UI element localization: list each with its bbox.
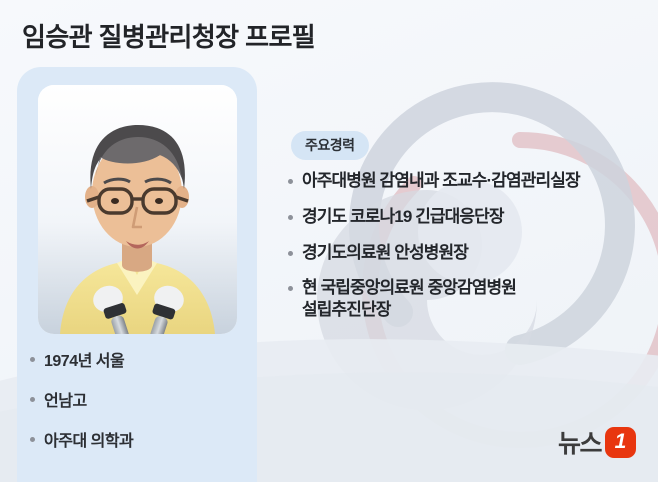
personal-info-list: 1974년 서울 언남고 아주대 의학과 <box>30 347 250 467</box>
logo-badge-icon: 1 <box>605 427 636 458</box>
career-item-text: 경기도의료원 안성병원장 <box>302 242 468 264</box>
profile-photo <box>38 85 237 334</box>
career-item-line1: 현 국립중앙의료원 중앙감염병원 <box>302 277 516 299</box>
career-list: 아주대병원 감염내과 조교수·감염관리실장 경기도 코로나19 긴급대응단장 경… <box>288 170 650 335</box>
career-item-text: 현 국립중앙의료원 중앙감염병원 설립추진단장 <box>302 277 516 321</box>
bullet-icon <box>288 179 293 184</box>
career-item-text: 아주대병원 감염내과 조교수·감염관리실장 <box>302 170 580 192</box>
infographic-canvas: 임승관 질병관리청장 프로필 <box>0 0 658 482</box>
career-item-line1: 경기도 코로나19 긴급대응단장 <box>302 206 504 228</box>
personal-info-text: 아주대 의학과 <box>44 427 133 451</box>
career-item-line2: 설립추진단장 <box>302 299 516 321</box>
list-item: 경기도의료원 안성병원장 <box>288 242 650 264</box>
bullet-icon <box>288 251 293 256</box>
news1-logo: 뉴스 1 <box>558 424 636 460</box>
career-item-line1: 경기도의료원 안성병원장 <box>302 242 468 264</box>
page-title: 임승관 질병관리청장 프로필 <box>22 17 315 54</box>
bullet-icon <box>30 357 35 362</box>
personal-info-text: 언남고 <box>44 387 87 411</box>
bullet-icon <box>288 215 293 220</box>
list-item: 1974년 서울 <box>30 347 250 371</box>
list-item: 언남고 <box>30 387 250 411</box>
list-item: 아주대병원 감염내과 조교수·감염관리실장 <box>288 170 650 192</box>
list-item: 아주대 의학과 <box>30 427 250 451</box>
bullet-icon <box>30 397 35 402</box>
list-item: 현 국립중앙의료원 중앙감염병원 설립추진단장 <box>288 277 650 321</box>
logo-wordmark: 뉴스 <box>558 424 601 460</box>
list-item: 경기도 코로나19 긴급대응단장 <box>288 206 650 228</box>
personal-info-text: 1974년 서울 <box>44 347 124 371</box>
profile-photo-illustration <box>38 85 237 334</box>
career-section-badge: 주요경력 <box>291 131 369 160</box>
career-item-text: 경기도 코로나19 긴급대응단장 <box>302 206 504 228</box>
career-item-line1: 아주대병원 감염내과 조교수·감염관리실장 <box>302 170 580 192</box>
bullet-icon <box>288 286 293 291</box>
bullet-icon <box>30 437 35 442</box>
